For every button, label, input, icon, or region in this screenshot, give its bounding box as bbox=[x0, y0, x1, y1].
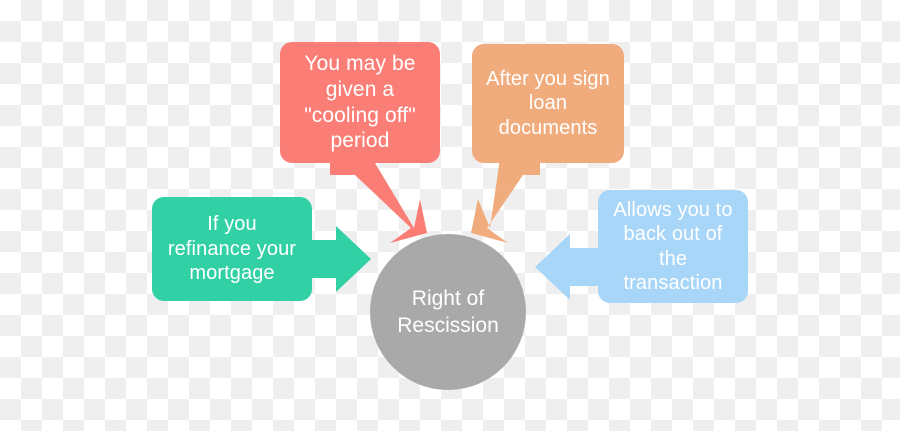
callout-sign-documents[interactable]: After you sign loan documents bbox=[472, 44, 624, 163]
arrow-back-out bbox=[535, 234, 604, 300]
callout-back-out[interactable]: Allows you to back out of the transactio… bbox=[598, 190, 748, 303]
arrow-refinance bbox=[302, 226, 371, 292]
arrow-sign-documents bbox=[471, 158, 540, 243]
callout-refinance-label: If you refinance your mortgage bbox=[162, 212, 302, 285]
callout-back-out-label: Allows you to back out of the transactio… bbox=[607, 198, 738, 296]
callout-cooling-off-label: You may be given a "cooling off" period bbox=[298, 51, 422, 153]
diagram-canvas: You may be given a "cooling off" period … bbox=[0, 0, 900, 431]
center-node-label: Right of Rescission bbox=[397, 285, 499, 340]
center-node-right-of-rescission[interactable]: Right of Rescission bbox=[370, 234, 526, 390]
callout-sign-documents-label: After you sign loan documents bbox=[480, 67, 616, 140]
callout-refinance[interactable]: If you refinance your mortgage bbox=[152, 197, 312, 301]
arrow-cooling-off bbox=[330, 158, 427, 243]
callout-cooling-off[interactable]: You may be given a "cooling off" period bbox=[280, 42, 440, 163]
